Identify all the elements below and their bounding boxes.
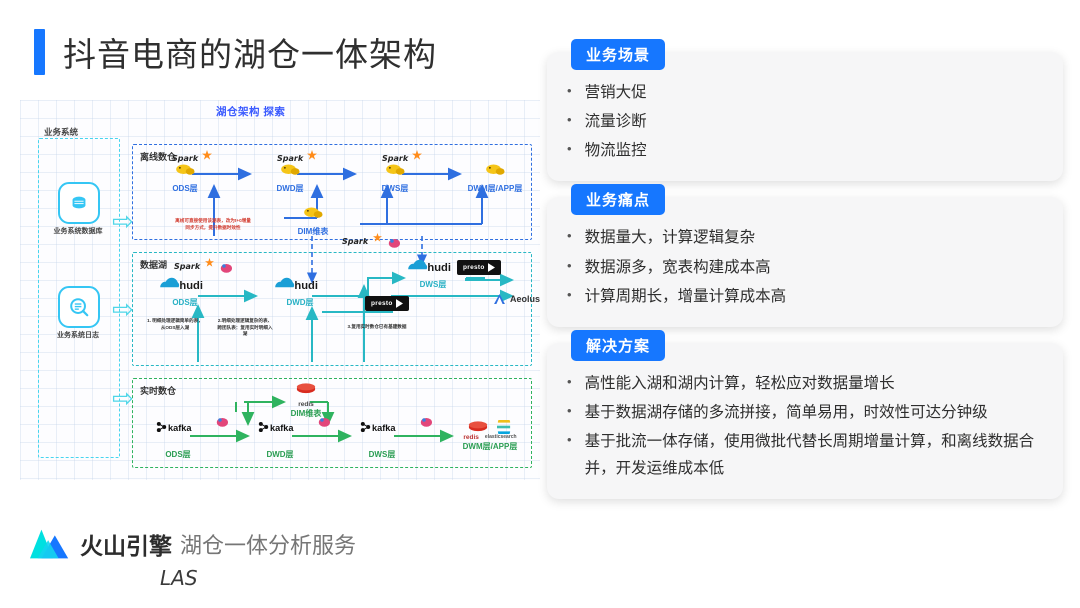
hive-icon [174, 162, 196, 178]
spark-star-icon-3 [412, 150, 422, 160]
realtime-node-dwd: kafka DWD层 [252, 420, 308, 460]
lake-node-dws-label: DWS层 [398, 279, 468, 290]
realtime-node-dwm: redis elasticsearch DWM层/APP层 [452, 420, 528, 452]
kafka-icon-3: kafka [359, 420, 405, 434]
flink-icon-5 [420, 416, 436, 428]
brand-name: 火山引擎 [80, 527, 172, 561]
realtime-dim-store-label: redis [278, 401, 334, 408]
flow-arrow-db: ⇨ [112, 208, 134, 234]
list-item: •营销大促 [567, 78, 1043, 107]
flink-icon-1 [220, 262, 236, 274]
bullet-text: 营销大促 [585, 79, 1043, 106]
bullet-dot: • [567, 79, 572, 104]
bullet-text: 计算周期长，增量计算成本高 [585, 283, 1043, 310]
list-item: •数据源多，宽表构建成本高 [567, 253, 1043, 282]
list-item: •流量诊断 [567, 107, 1043, 136]
offline-node-dim: DIM维表 [285, 205, 341, 237]
presto-badge-1: presto [457, 260, 501, 275]
svg-text:hudi: hudi [179, 280, 203, 292]
redis-icon-2 [468, 420, 488, 434]
page-title: 抖音电商的湖仓一体架构 [34, 28, 437, 76]
card-badge-scenarios: 业务场景 [571, 39, 665, 70]
bullet-text: 流量诊断 [585, 108, 1043, 135]
presto-label-1: presto [463, 264, 485, 271]
svg-text:kafka: kafka [270, 423, 294, 433]
spark-star-icon-5 [373, 233, 382, 242]
realtime-node-ods: kafka ODS层 [150, 420, 206, 460]
source-label-database: 业务系统数据库 [32, 226, 124, 236]
realtime-node-dws-label: DWS层 [354, 449, 410, 460]
bullet-dot: • [567, 108, 572, 133]
aeolus-label: Aeolus [510, 294, 540, 304]
flink-icon-2 [388, 237, 404, 249]
bullet-list-solution: •高性能入湖和湖内计算，轻松应对数据量增长 •基于数据湖存储的多流拼接，简单易用… [567, 369, 1043, 484]
bullet-dot: • [567, 370, 572, 395]
bullet-dot: • [567, 254, 572, 279]
presto-badge-2: presto [365, 296, 409, 311]
bullet-list-pain-points: •数据量大，计算逻辑复杂 •数据源多，宽表构建成本高 •计算周期长，增量计算成本… [567, 223, 1043, 310]
hive-icon [384, 162, 406, 178]
flink-icon-3 [216, 416, 232, 428]
flink-icon-4 [318, 416, 334, 428]
bullet-text: 基于数据湖存储的多流拼接，简单易用，时效性可达分钟级 [585, 399, 1043, 426]
info-cards: 业务场景 •营销大促 •流量诊断 •物流监控 业务痛点 •数据量大，计算逻辑复杂… [547, 52, 1063, 515]
lake-node-ods-label: ODS层 [150, 297, 220, 308]
kafka-icon-2: kafka [257, 420, 303, 434]
bullet-text: 数据量大，计算逻辑复杂 [585, 224, 1043, 251]
bullet-text: 物流监控 [585, 137, 1043, 164]
card-solution: 解决方案 •高性能入湖和湖内计算，轻松应对数据量增长 •基于数据湖存储的多流拼接… [547, 343, 1063, 500]
offline-node-ods: ODS层 [160, 162, 210, 194]
bullet-text: 基于批流一体存储，使用微批代替长周期增量计算，和离线数据合并，开发运维成本低 [585, 428, 1043, 482]
title-text: 抖音电商的湖仓一体架构 [63, 28, 437, 76]
flow-arrow-rt: ⇨ [112, 385, 134, 411]
bullet-dot: • [567, 283, 572, 308]
offline-node-dws-label: DWS层 [370, 183, 420, 194]
log-search-icon [58, 286, 100, 328]
list-item: •物流监控 [567, 136, 1043, 165]
card-business-scenarios: 业务场景 •营销大促 •流量诊断 •物流监控 [547, 52, 1063, 181]
list-item: •计算周期长，增量计算成本高 [567, 282, 1043, 311]
spark-star-icon-4 [205, 258, 214, 267]
offline-node-dwd-label: DWD层 [265, 183, 315, 194]
offline-node-ods-label: ODS层 [160, 183, 210, 194]
hive-icon [279, 162, 301, 178]
realtime-node-dwm-label: DWM层/APP层 [452, 441, 528, 452]
bullet-dot: • [567, 428, 572, 453]
presto-mark-1 [488, 263, 495, 272]
hudi-icon-3: hudi [405, 258, 461, 274]
realtime-dim-node: redis DIM维表 [278, 382, 334, 419]
architecture-diagram: 湖仓架构 探索 业务系统 业务系统数据库 业务系统日志 ⇨ ⇨ ⇨ 离线数仓 S… [20, 100, 540, 480]
realtime-node-dwd-label: DWD层 [252, 449, 308, 460]
presto-label-2: presto [371, 300, 393, 307]
svg-text:hudi: hudi [427, 262, 451, 274]
offline-node-dwm: DWM层/APP层 [461, 162, 529, 194]
svg-text:kafka: kafka [372, 423, 396, 433]
card-business-pain-points: 业务痛点 •数据量大，计算逻辑复杂 •数据源多，宽表构建成本高 •计算周期长，增… [547, 197, 1063, 326]
card-badge-solution: 解决方案 [571, 330, 665, 361]
card-badge-pain-points: 业务痛点 [571, 184, 665, 215]
bullet-dot: • [567, 224, 572, 249]
lake-note-2: 2.明细处理逻辑复杂的表、跨团队表：复用实时明细入湖 [216, 318, 274, 338]
brand-product: 湖仓一体分析服务 [180, 528, 356, 560]
hive-icon [302, 205, 324, 221]
svg-text:hudi: hudi [294, 280, 318, 292]
realtime-node-ods-label: ODS层 [150, 449, 206, 460]
svg-text:kafka: kafka [168, 423, 192, 433]
offline-node-dwm-label: DWM层/APP层 [461, 183, 529, 194]
bullet-dot: • [567, 399, 572, 424]
list-item: •基于批流一体存储，使用微批代替长周期增量计算，和离线数据合并，开发运维成本低 [567, 427, 1043, 483]
source-group-label: 业务系统 [44, 126, 78, 138]
diagram-title: 湖仓架构 探索 [216, 104, 285, 119]
offline-node-dws: DWS层 [370, 162, 420, 194]
bullet-list-scenarios: •营销大促 •流量诊断 •物流监控 [567, 78, 1043, 165]
bullet-text: 高性能入湖和湖内计算，轻松应对数据量增长 [585, 370, 1043, 397]
volcano-logo-icon [30, 527, 72, 561]
brand-footer: 火山引擎 湖仓一体分析服务 [30, 527, 356, 561]
bullet-dot: • [567, 137, 572, 162]
realtime-sink-redis-label: redis [463, 434, 479, 441]
offline-node-dwd: DWD层 [265, 162, 315, 194]
lake-note-1: 1. 明细处理逻辑简单的表，从ODS层入湖 [146, 318, 204, 331]
presto-mark-2 [396, 299, 403, 308]
title-accent-bar [34, 29, 45, 75]
spark-star-icon-1 [202, 150, 212, 160]
realtime-sink-es-label: elasticsearch [485, 434, 517, 441]
lake-note-3: 3.复用实时数仓已有基建数据 [346, 324, 408, 331]
list-item: •基于数据湖存储的多流拼接，简单易用，时效性可达分钟级 [567, 398, 1043, 427]
database-cloud-icon [58, 182, 100, 224]
brand-code: LAS [160, 566, 198, 590]
lake-engine-spark-2: Spark [342, 237, 368, 246]
lake-node-dwd: hudi DWD层 [265, 276, 335, 308]
kafka-icon-1: kafka [155, 420, 201, 434]
flow-arrow-log: ⇨ [112, 296, 134, 322]
list-item: •高性能入湖和湖内计算，轻松应对数据量增长 [567, 369, 1043, 398]
hudi-icon-2: hudi [272, 276, 328, 292]
realtime-node-dws: kafka DWS层 [354, 420, 410, 460]
hudi-icon-1: hudi [157, 276, 213, 292]
source-label-log: 业务系统日志 [32, 330, 124, 340]
redis-icon-1 [296, 382, 316, 396]
elasticsearch-icon [496, 420, 512, 434]
aeolus-node: Aeolus [494, 294, 540, 304]
lake-engine-spark: Spark [174, 262, 200, 271]
spark-star-icon-2 [307, 150, 317, 160]
list-item: •数据量大，计算逻辑复杂 [567, 223, 1043, 252]
aeolus-icon [494, 294, 505, 304]
offline-note: 离线可直接使用该湖表，改为t+0增量同步方式，提升数据时效性 [175, 218, 251, 231]
lake-node-dwd-label: DWD层 [265, 297, 335, 308]
hive-icon [484, 162, 506, 178]
bullet-text: 数据源多，宽表构建成本高 [585, 254, 1043, 281]
lake-node-ods: hudi ODS层 [150, 276, 220, 308]
